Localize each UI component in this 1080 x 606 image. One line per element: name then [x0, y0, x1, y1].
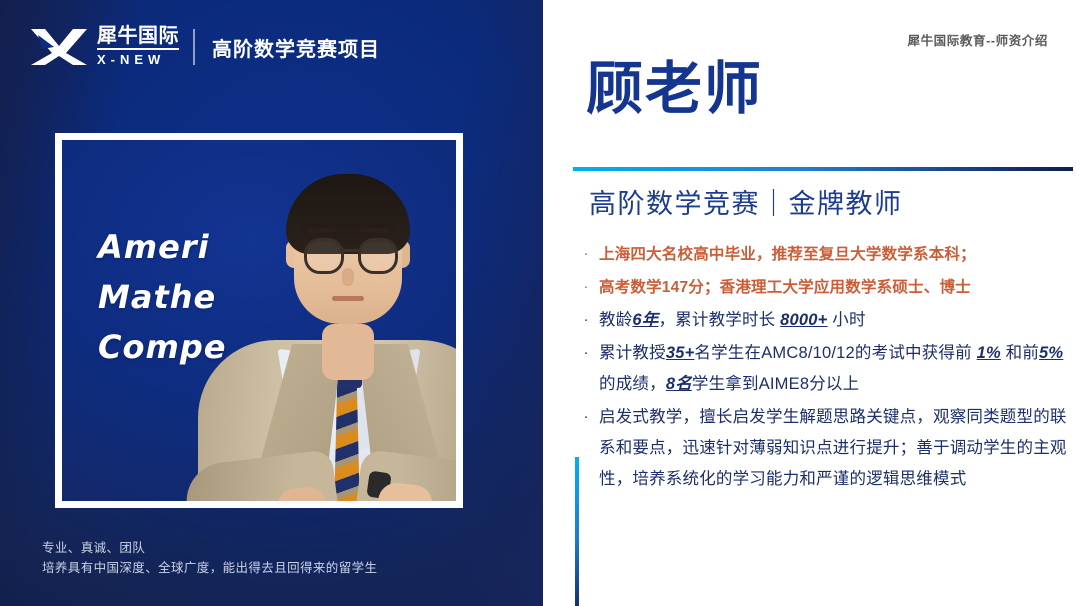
page-header-label: 犀牛国际教育--师资介绍	[907, 30, 1048, 49]
bullet-dot-icon: ·	[573, 402, 599, 432]
list-item-text: 累计教授35+名学生在AMC8/10/12的考试中获得前 1% 和前5% 的成绩…	[599, 338, 1077, 400]
footer-line-1: 专业、真诚、团队	[42, 538, 377, 558]
brand-wordmark: 犀牛国际 X-NEW	[97, 26, 179, 68]
list-item: · 上海四大名校高中毕业，推荐至复旦大学数学系本科；	[573, 239, 1077, 270]
bullet-dot-icon: ·	[573, 338, 599, 368]
list-item-text: 教龄6年，累计教学时长 8000+ 小时	[599, 305, 866, 336]
list-item: · 教龄6年，累计教学时长 8000+ 小时	[573, 305, 1077, 336]
title-underline-rule	[573, 167, 1073, 171]
footer-line-2: 培养具有中国深度、全球广度，能出得去且回得来的留学生	[42, 558, 377, 578]
list-item: · 高考数学147分；香港理工大学应用数学系硕士、博士	[573, 272, 1077, 303]
list-item-text: 启发式教学，擅长启发学生解题思路关键点，观察同类题型的联系和要点，迅速针对薄弱知…	[599, 402, 1077, 495]
x-rhino-logo-icon	[28, 25, 90, 69]
bullet-dot-icon: ·	[573, 272, 599, 302]
bullet-list: · 上海四大名校高中毕业，推荐至复旦大学数学系本科； · 高考数学147分；香港…	[573, 239, 1077, 497]
subtitle: 高阶数学竞赛｜金牌教师	[589, 182, 903, 221]
slide-root: 犀牛国际 X-NEW 高阶数学竞赛项目 Ameri Mathe Compe	[0, 0, 1080, 606]
list-item: · 累计教授35+名学生在AMC8/10/12的考试中获得前 1% 和前5% 的…	[573, 338, 1077, 400]
page-title: 顾老师	[586, 58, 763, 120]
photo-white-frame	[55, 133, 463, 508]
brand-name-cn: 犀牛国际	[97, 26, 179, 50]
left-panel-footer: 专业、真诚、团队 培养具有中国深度、全球广度，能出得去且回得来的留学生	[42, 538, 377, 578]
list-item-text: 高考数学147分；香港理工大学应用数学系硕士、博士	[599, 272, 971, 303]
cyan-accent-bar	[575, 457, 579, 606]
list-item-text: 上海四大名校高中毕业，推荐至复旦大学数学系本科；	[599, 239, 976, 270]
bullet-dot-icon: ·	[573, 239, 599, 269]
bullet-dot-icon: ·	[573, 305, 599, 335]
left-blue-panel: 犀牛国际 X-NEW 高阶数学竞赛项目 Ameri Mathe Compe	[0, 0, 543, 606]
logo-divider	[193, 29, 195, 65]
list-item: · 启发式教学，擅长启发学生解题思路关键点，观察同类题型的联系和要点，迅速针对薄…	[573, 402, 1077, 495]
brand-name-en: X-NEW	[97, 52, 179, 68]
program-tag: 高阶数学竞赛项目	[212, 33, 380, 62]
right-content-panel: 犀牛国际教育--师资介绍 顾老师 高阶数学竞赛｜金牌教师 · 上海四大名校高中毕…	[543, 0, 1080, 606]
brand-logo[interactable]: 犀牛国际 X-NEW 高阶数学竞赛项目	[28, 24, 380, 70]
